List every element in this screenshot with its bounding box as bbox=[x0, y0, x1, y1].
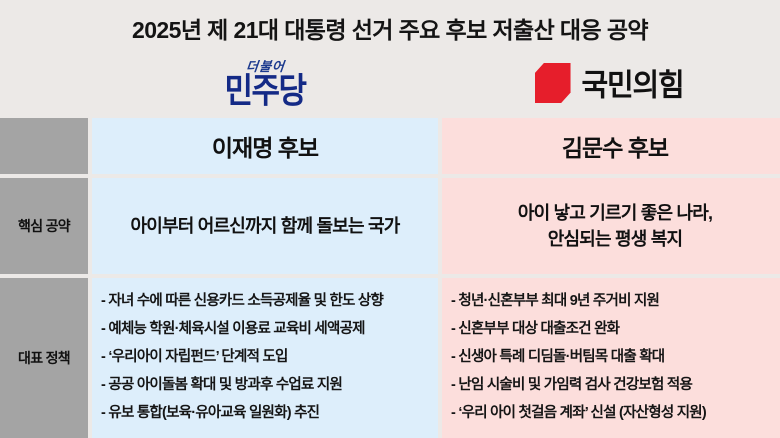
table-corner-blank-cell bbox=[0, 118, 88, 174]
policy-list-item: - 난임 시술비 및 가임력 검사 건강보험 적용 bbox=[451, 372, 706, 400]
core-pledge-text-right: 아이 낳고 기르기 좋은 나라, 안심되는 평생 복지 bbox=[518, 200, 712, 252]
core-pledge-line1-right: 아이 낳고 기르기 좋은 나라, bbox=[518, 203, 712, 223]
row-label-core-pledge: 핵심 공약 bbox=[0, 178, 88, 274]
party-logo-band: 더불어 민주당 국민의힘 bbox=[0, 52, 780, 114]
core-pledge-cell-right: 아이 낳고 기르기 좋은 나라, 안심되는 평생 복지 bbox=[442, 178, 780, 274]
democratic-party-name: 민주당 bbox=[224, 73, 305, 108]
policy-list-item: - 예체능 학원·체육시설 이용료 교육비 세액공제 bbox=[101, 316, 383, 344]
democratic-party-logo-icon: 더불어 민주당 bbox=[224, 61, 305, 106]
people-power-party-logo-icon: 국민의힘 bbox=[535, 62, 684, 104]
policy-list-item: - 청년·신혼부부 최대 9년 주거비 지원 bbox=[451, 288, 706, 316]
key-policies-cell-left: - 자녀 수에 따른 신용카드 소득공제율 및 한도 상향- 예체능 학원·체육… bbox=[92, 278, 438, 438]
policy-list-item: - 신생아 특례 디딤돌·버팀목 대출 확대 bbox=[451, 344, 706, 372]
candidate-cell-left: 이재명 후보 bbox=[92, 118, 438, 174]
candidate-name-right: 김문수 후보 bbox=[562, 129, 668, 163]
policy-list-item: - 자녀 수에 따른 신용카드 소득공제율 및 한도 상향 bbox=[101, 288, 383, 316]
core-pledge-line2-right: 안심되는 평생 복지 bbox=[548, 229, 682, 249]
candidate-cell-right: 김문수 후보 bbox=[442, 118, 780, 174]
policy-list-item: - ‘우리아이 자립펀드’ 단계적 도입 bbox=[101, 344, 383, 372]
people-power-party-name: 국민의힘 bbox=[582, 61, 684, 106]
core-pledge-text-left: 아이부터 어르신까지 함께 돌보는 국가 bbox=[131, 213, 400, 239]
comparison-table: 이재명 후보 김문수 후보 핵심 공약 아이부터 어르신까지 함께 돌보는 국가… bbox=[0, 118, 780, 438]
policy-list-item: - ‘우리 아이 첫걸음 계좌’ 신설 (자산형성 지원) bbox=[451, 400, 706, 428]
policy-list-item: - 신혼부부 대상 대출조건 완화 bbox=[451, 316, 706, 344]
key-policies-cell-right: - 청년·신혼부부 최대 9년 주거비 지원- 신혼부부 대상 대출조건 완화-… bbox=[442, 278, 780, 438]
candidate-name-left: 이재명 후보 bbox=[212, 129, 318, 163]
democratic-party-logo-slot: 더불어 민주당 bbox=[92, 52, 438, 114]
red-polygon-mark-icon bbox=[535, 63, 571, 103]
policy-list-right: - 청년·신혼부부 최대 9년 주거비 지원- 신혼부부 대상 대출조건 완화-… bbox=[451, 288, 706, 427]
page-title: 2025년 제 21대 대통령 선거 주요 후보 저출산 대응 공약 bbox=[0, 11, 780, 45]
policy-list-item: - 공공 아이돌봄 확대 및 방과후 수업료 지원 bbox=[101, 372, 383, 400]
policy-list-left: - 자녀 수에 따른 신용카드 소득공제율 및 한도 상향- 예체능 학원·체육… bbox=[101, 288, 383, 427]
people-power-party-logo-slot: 국민의힘 bbox=[438, 52, 780, 114]
policy-list-item: - 유보 통합(보육·유아교육 일원화) 추진 bbox=[101, 400, 383, 428]
row-label-key-policies: 대표 정책 bbox=[0, 278, 88, 438]
core-pledge-cell-left: 아이부터 어르신까지 함께 돌보는 국가 bbox=[92, 178, 438, 274]
